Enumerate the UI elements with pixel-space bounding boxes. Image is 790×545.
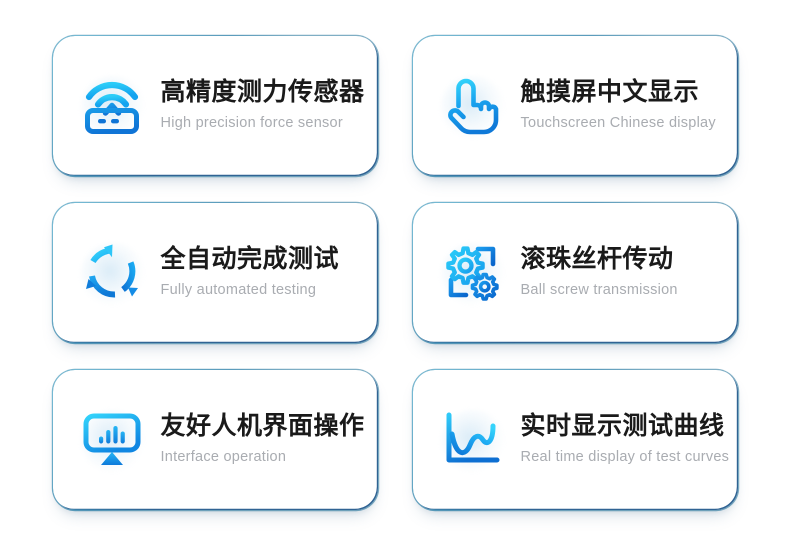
card-text-block: 实时显示测试曲线 Real time display of test curve…: [521, 412, 722, 466]
card-subtitle: Fully automated testing: [161, 282, 362, 299]
auto-refresh-cycle-icon: [75, 233, 149, 313]
touch-hand-icon: [435, 66, 509, 146]
card-text-block: 触摸屏中文显示 Touchscreen Chinese display: [521, 78, 722, 132]
gears-icon: [435, 233, 509, 313]
line-curve-chart-icon: [435, 400, 509, 480]
card-title: 全自动完成测试: [161, 245, 362, 273]
card-text-block: 滚珠丝杆传动 Ball screw transmission: [521, 245, 722, 299]
card-text-block: 高精度测力传感器 High precision force sensor: [161, 78, 362, 132]
card-subtitle: High precision force sensor: [161, 115, 362, 132]
feature-card-force-sensor[interactable]: 高精度测力传感器 High precision force sensor: [53, 36, 378, 176]
card-text-block: 友好人机界面操作 Interface operation: [161, 412, 362, 466]
force-sensor-icon: [75, 66, 149, 146]
card-title: 友好人机界面操作: [161, 412, 362, 440]
card-subtitle: Interface operation: [161, 449, 362, 466]
feature-card-touchscreen[interactable]: 触摸屏中文显示 Touchscreen Chinese display: [413, 36, 738, 176]
feature-card-automated-testing[interactable]: 全自动完成测试 Fully automated testing: [53, 203, 378, 343]
card-text-block: 全自动完成测试 Fully automated testing: [161, 245, 362, 299]
card-title: 实时显示测试曲线: [521, 412, 722, 440]
feature-card-ball-screw[interactable]: 滚珠丝杆传动 Ball screw transmission: [413, 203, 738, 343]
monitor-bar-chart-icon: [75, 400, 149, 480]
feature-card-test-curves[interactable]: 实时显示测试曲线 Real time display of test curve…: [413, 370, 738, 510]
card-subtitle: Touchscreen Chinese display: [521, 115, 722, 132]
card-subtitle: Ball screw transmission: [521, 282, 722, 299]
card-title: 高精度测力传感器: [161, 78, 362, 106]
card-title: 触摸屏中文显示: [521, 78, 722, 106]
feature-card-grid: 高精度测力传感器 High precision force sensor: [0, 0, 790, 545]
card-subtitle: Real time display of test curves: [521, 449, 722, 466]
feature-card-interface-operation[interactable]: 友好人机界面操作 Interface operation: [53, 370, 378, 510]
card-title: 滚珠丝杆传动: [521, 245, 722, 273]
